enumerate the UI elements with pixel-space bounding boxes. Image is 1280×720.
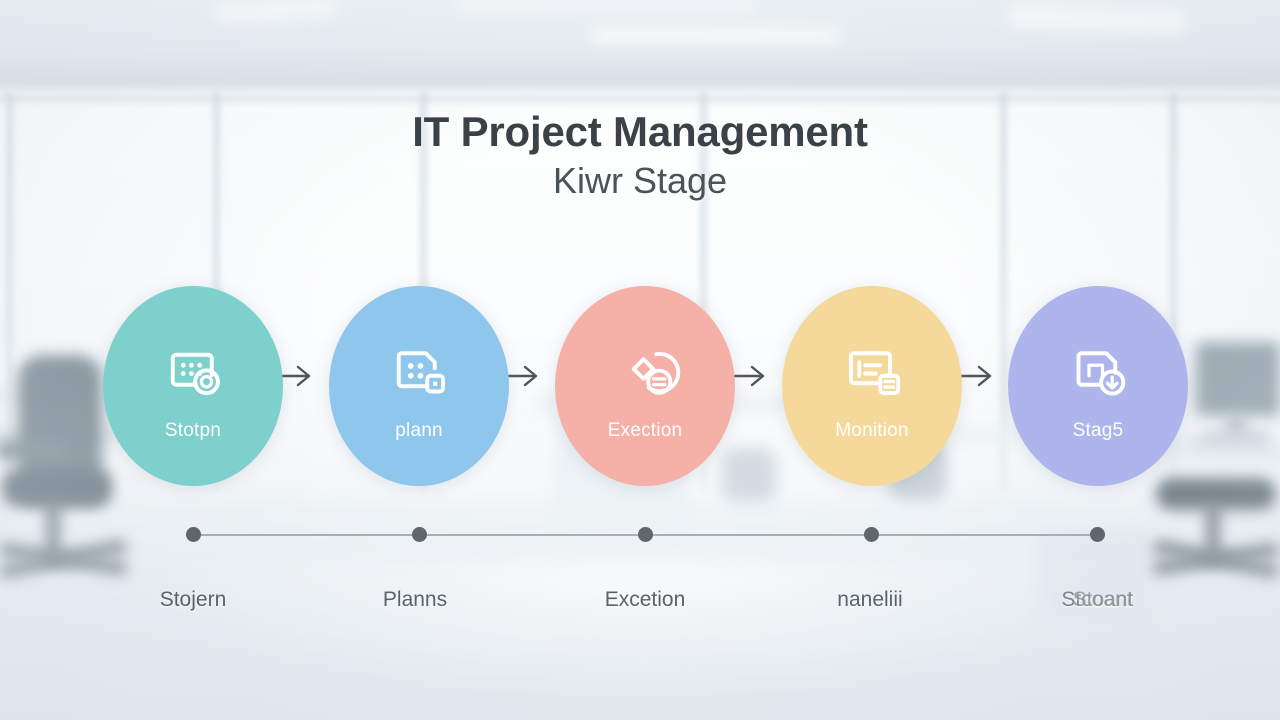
page-title: IT Project Management [0, 108, 1280, 155]
stage-node-5-label: Stag5 [1073, 421, 1124, 440]
copy-document-download-icon [1062, 333, 1134, 405]
stage-caption-2: Planns [300, 586, 530, 613]
stage-caption-4: naneliii [755, 586, 985, 613]
stage-node-5[interactable]: Stag5 [1008, 286, 1188, 486]
stage-caption-3: Excetion [530, 586, 760, 613]
stage-node-2-label: plann [395, 421, 443, 440]
timeline-dot-4[interactable] [864, 527, 879, 542]
circle-diamond-badge-icon [609, 333, 681, 405]
slide-canvas: IT Project Management Kiwr Stage [0, 0, 1280, 720]
stage-caption-1: Stojern [78, 586, 308, 613]
stage-node-4-label: Monition [835, 421, 908, 440]
grid-square-target-icon [157, 333, 229, 405]
stage-node-1-label: Stotpn [165, 421, 221, 440]
stage-node-1[interactable]: Stotpn [103, 286, 283, 486]
title-block: IT Project Management Kiwr Stage [0, 108, 1280, 201]
stage-caption-5-overlay-text: Stoant [988, 586, 1218, 613]
timeline-dot-2[interactable] [412, 527, 427, 542]
stage-node-3-label: Exection [608, 421, 682, 440]
timeline-dot-3[interactable] [638, 527, 653, 542]
stage-caption-row: Stojern Planns Excetion naneliii Stcoant… [0, 586, 1280, 626]
stage-node-3[interactable]: Exection [555, 286, 735, 486]
stage-caption-5: Stcoant Stoant [982, 586, 1212, 613]
document-list-badge-icon [836, 333, 908, 405]
stage-row: Stotpn plann [0, 286, 1280, 486]
document-dots-folder-icon [383, 333, 455, 405]
page-subtitle: Kiwr Stage [0, 161, 1280, 201]
stage-node-2[interactable]: plann [329, 286, 509, 486]
timeline-dot-5[interactable] [1090, 527, 1105, 542]
timeline [0, 525, 1280, 545]
timeline-dot-1[interactable] [186, 527, 201, 542]
stage-node-4[interactable]: Monition [782, 286, 962, 486]
